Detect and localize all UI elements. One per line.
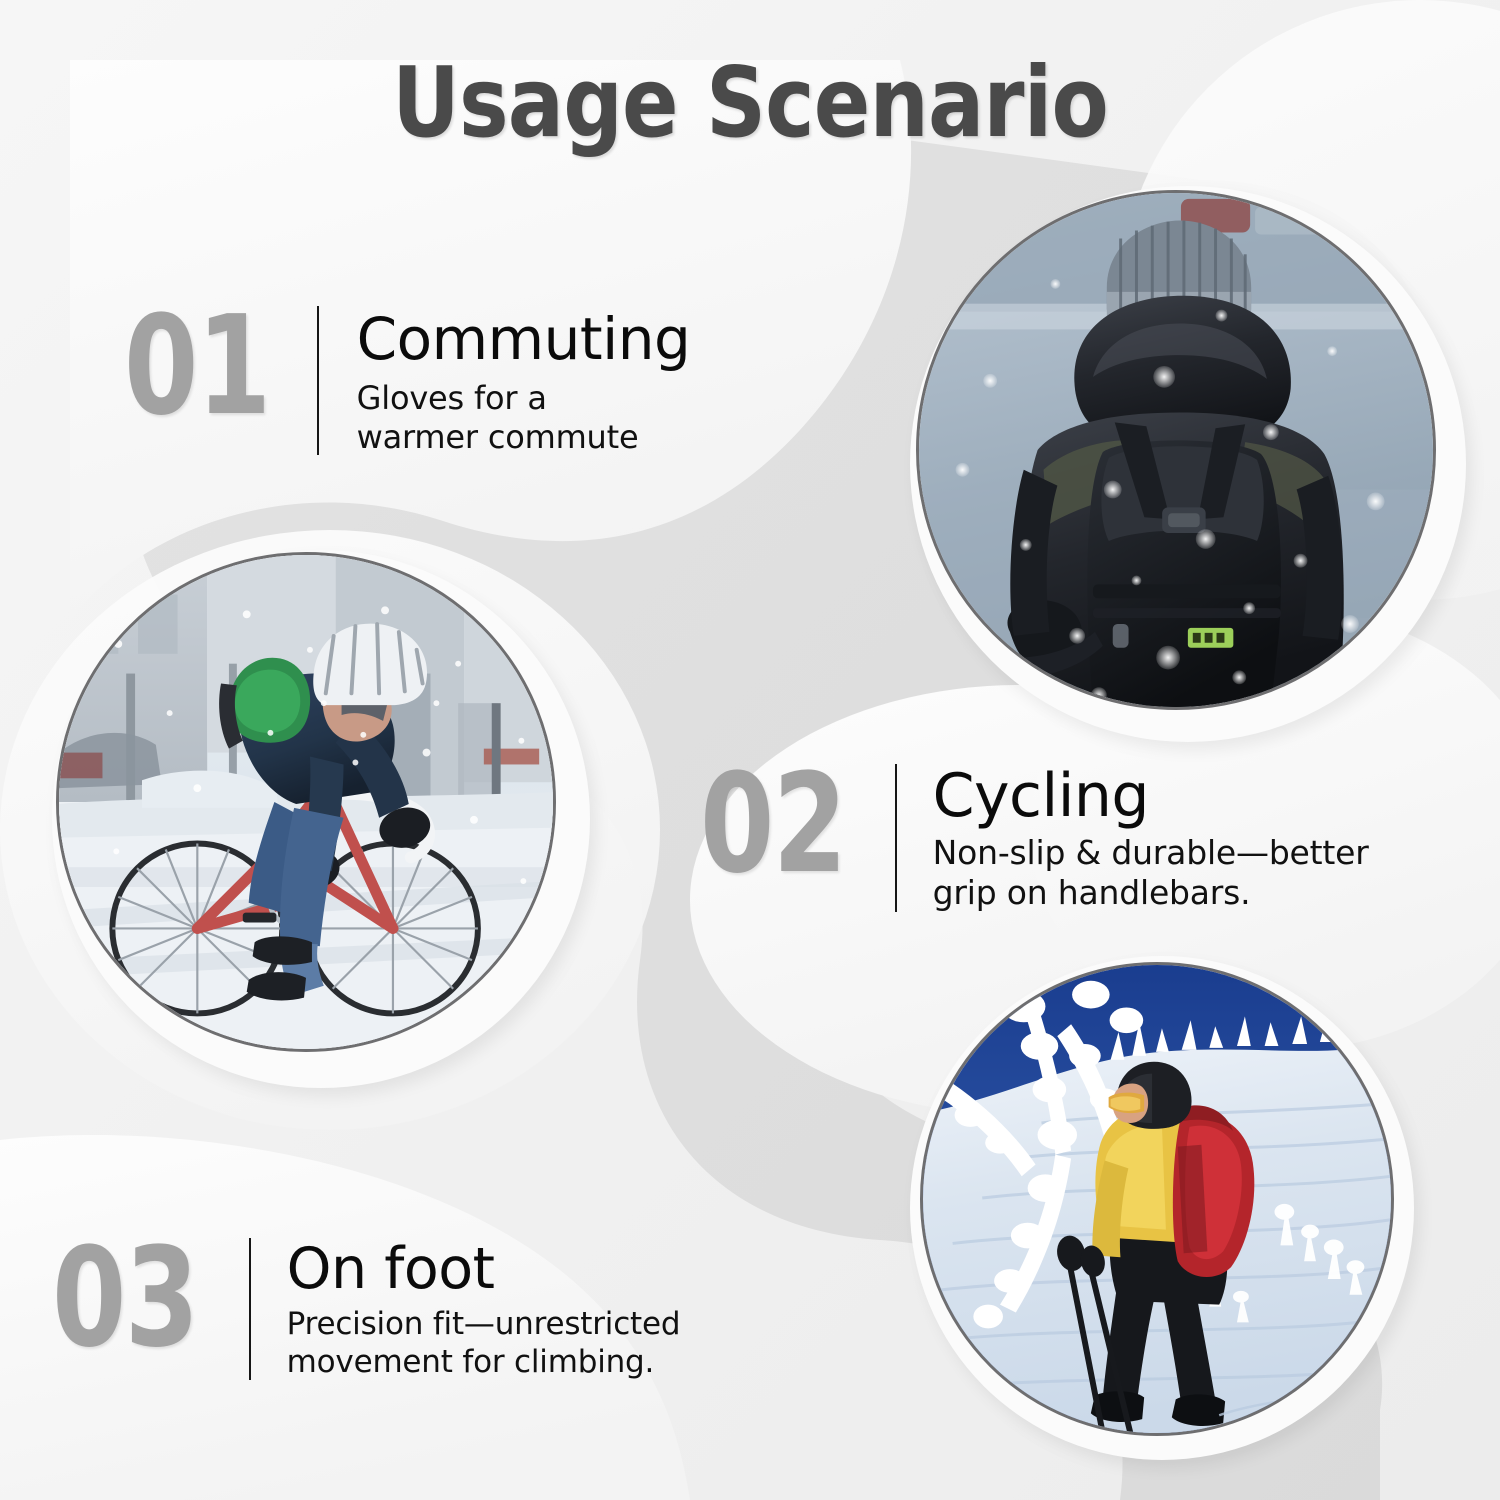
scenario-row-commuting: 01 Commuting Gloves for a warmer commute (124, 300, 690, 457)
scenario-description-commuting: Gloves for a warmer commute (357, 379, 691, 457)
photo-on-foot (920, 962, 1394, 1436)
cycling-illustration (59, 555, 553, 1049)
photo-commuting (916, 190, 1436, 710)
scenario-heading-commuting: Commuting (357, 310, 691, 369)
scenario-number-01: 01 (124, 300, 270, 434)
scenario-row-on-foot: 03 On foot Precision fit—unrestricted mo… (52, 1232, 680, 1382)
scenario-number-02: 02 (700, 758, 846, 892)
scenario-heading-on-foot: On foot (287, 1240, 681, 1298)
row-divider (249, 1238, 251, 1380)
row-divider (895, 764, 897, 912)
scenario-description-on-foot: Precision fit—unrestricted movement for … (287, 1306, 681, 1382)
scenario-number-03: 03 (52, 1232, 198, 1366)
commuting-illustration (919, 193, 1433, 707)
photo-cycling (56, 552, 556, 1052)
row-divider (317, 306, 319, 455)
page-title: Usage Scenario (105, 46, 1395, 159)
scenario-row-cycling: 02 Cycling Non-slip & durable—better gri… (700, 758, 1369, 914)
scenario-heading-cycling: Cycling (933, 766, 1369, 827)
on-foot-illustration (923, 965, 1391, 1433)
scenario-description-cycling: Non-slip & durable—better grip on handle… (933, 833, 1369, 914)
infographic-canvas: Usage Scenario 01 Commuting Gloves for a… (0, 0, 1500, 1500)
